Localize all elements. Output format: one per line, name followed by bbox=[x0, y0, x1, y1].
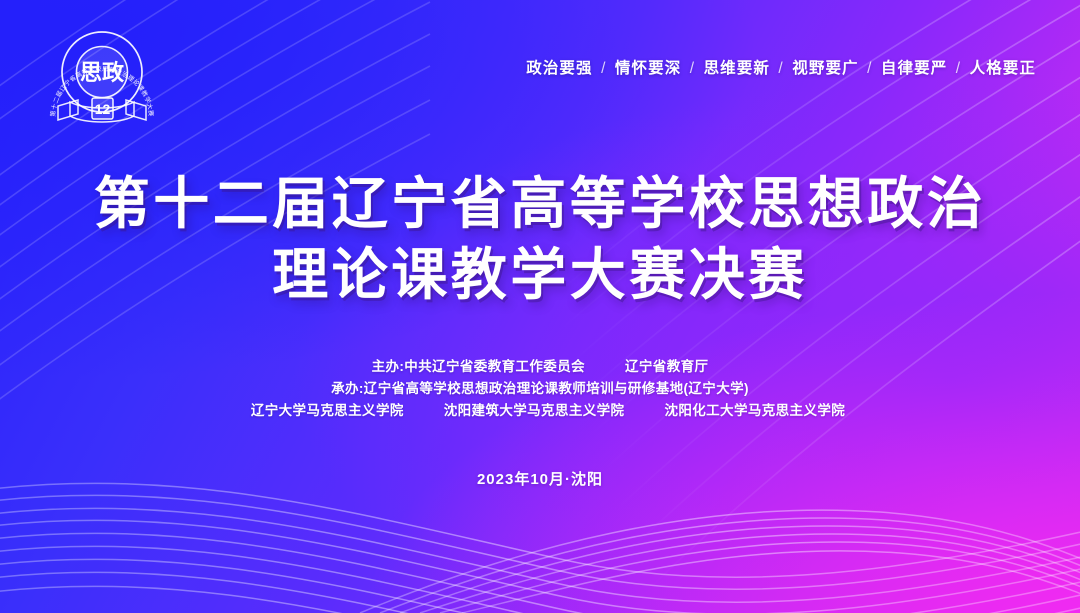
slogan-item-2: 思维要新 bbox=[704, 60, 770, 77]
organizer-line: 承办:辽宁省高等学校思想政治理论课教师培训与研修基地(辽宁大学) bbox=[0, 378, 1080, 400]
slogan-separator: / bbox=[953, 60, 964, 77]
slogan-separator: / bbox=[687, 60, 698, 77]
main-title-line-1: 第十二届辽宁省高等学校思想政治 bbox=[0, 168, 1080, 239]
host-org-2: 辽宁省教育厅 bbox=[625, 359, 708, 374]
emblem-center-text: 思政 bbox=[80, 60, 125, 85]
slogan-item-4: 自律要严 bbox=[881, 60, 947, 77]
host-line: 主办:中共辽宁省委教育工作委员会辽宁省教育厅 bbox=[0, 356, 1080, 378]
slogan-item-0: 政治要强 bbox=[526, 60, 592, 77]
host-label: 主办: bbox=[372, 359, 405, 374]
slogan-item-1: 情怀要深 bbox=[615, 60, 681, 77]
wave-group-bottom bbox=[0, 483, 1080, 613]
colleges-line: 辽宁大学马克思主义学院沈阳建筑大学马克思主义学院沈阳化工大学马克思主义学院 bbox=[0, 400, 1080, 422]
organizer-base: 辽宁省高等学校思想政治理论课教师培训与研修基地(辽宁大学) bbox=[364, 381, 749, 396]
event-date-location: 2023年10月·沈阳 bbox=[0, 468, 1080, 489]
slogan-separator: / bbox=[775, 60, 786, 77]
college-2: 沈阳化工大学马克思主义学院 bbox=[664, 403, 845, 418]
college-1: 沈阳建筑大学马克思主义学院 bbox=[444, 403, 625, 418]
main-title-line-2: 理论课教学大赛决赛 bbox=[0, 239, 1080, 310]
poster-root: 第十二届辽宁省高等学校思想政治理论课教学大赛 思政 12 政治要强 / 情怀要深… bbox=[0, 0, 1080, 613]
event-emblem-logo: 第十二届辽宁省高等学校思想政治理论课教学大赛 思政 12 bbox=[38, 22, 166, 138]
organizer-label: 承办: bbox=[331, 381, 364, 396]
slogan-bar: 政治要强 / 情怀要深 / 思维要新 / 视野要广 / 自律要严 / 人格要正 bbox=[526, 56, 1036, 78]
slogan-item-3: 视野要广 bbox=[792, 60, 858, 77]
college-0: 辽宁大学马克思主义学院 bbox=[251, 403, 404, 418]
slogan-item-5: 人格要正 bbox=[970, 60, 1036, 77]
main-title: 第十二届辽宁省高等学校思想政治 理论课教学大赛决赛 bbox=[0, 168, 1080, 310]
slogan-separator: / bbox=[598, 60, 609, 77]
host-org-1: 中共辽宁省委教育工作委员会 bbox=[404, 359, 585, 374]
organizer-info: 主办:中共辽宁省委教育工作委员会辽宁省教育厅 承办:辽宁省高等学校思想政治理论课… bbox=[0, 356, 1080, 422]
slogan-separator: / bbox=[864, 60, 875, 77]
emblem-number-text: 12 bbox=[95, 101, 111, 117]
